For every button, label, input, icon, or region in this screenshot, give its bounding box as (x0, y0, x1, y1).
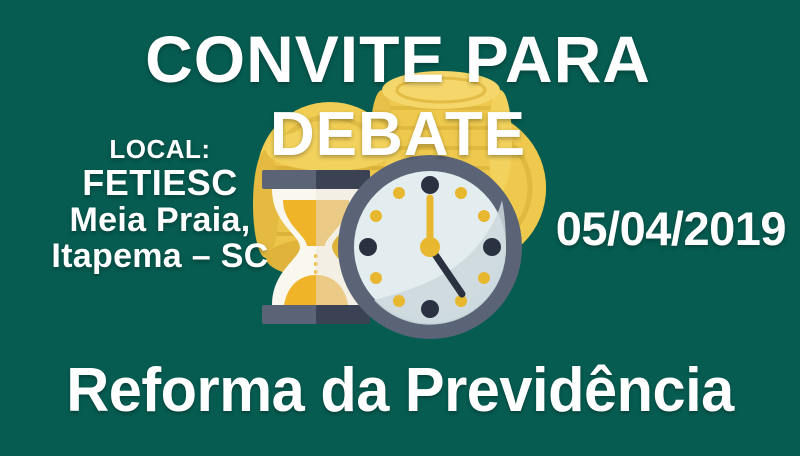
venue-city: Itapema – SC (10, 238, 310, 274)
headline-line-1: CONVITE PARA (0, 26, 798, 92)
venue-info-block: LOCAL: FETIESC Meia Praia, Itapema – SC (10, 136, 310, 274)
event-date: 05/04/2019 (556, 205, 786, 252)
venue-street: Meia Praia, (10, 202, 310, 238)
subject-title: Reforma da Previdência (16, 360, 784, 422)
venue-organization: FETIESC (10, 164, 310, 202)
poster-text-layer: CONVITE PARA DEBATE LOCAL: FETIESC Meia … (0, 0, 800, 456)
poster-canvas: CONVITE PARA DEBATE LOCAL: FETIESC Meia … (0, 0, 800, 456)
venue-label: LOCAL: (10, 136, 310, 164)
